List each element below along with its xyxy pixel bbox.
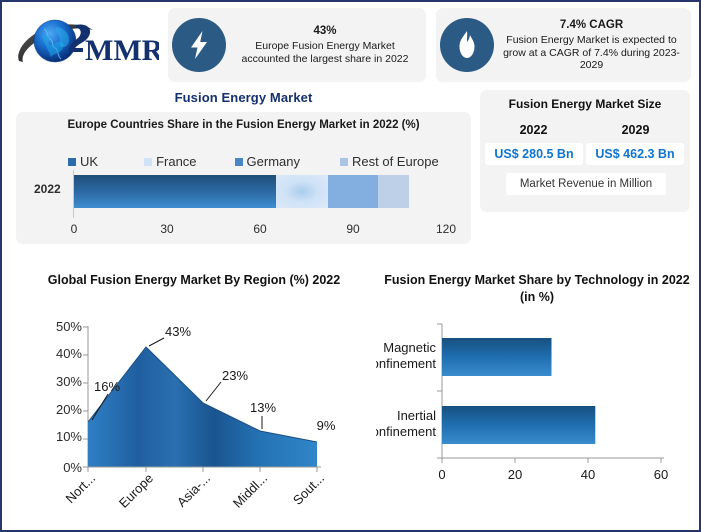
chart-legend-europe-share: UK France Germany Rest of Europe	[56, 154, 456, 169]
globe-orbit-logo-icon: MMR	[13, 15, 159, 75]
flame-icon	[440, 18, 494, 72]
y-tick-50: 50%	[56, 319, 82, 334]
tech-bar-chart-svg: 0 20 40 60 Magnetic Confinement Inertial…	[376, 316, 696, 516]
stat-text-europe: 43% Europe Fusion Energy Market accounte…	[226, 24, 420, 66]
legend-label-france: France	[156, 154, 196, 169]
x-tick-0: 0	[71, 222, 78, 236]
chart-title-by-region: Global Fusion Energy Market By Region (%…	[34, 272, 354, 289]
data-label-region-0: 16%	[94, 379, 120, 394]
x-cat-1: Europe	[116, 471, 156, 511]
legend-label-germany: Germany	[247, 154, 300, 169]
infographic-frame: MMR 43% Europe Fusion Energy Market acco…	[0, 0, 701, 532]
stack-segment-germany	[328, 175, 378, 208]
stat-text-cagr: 7.4% CAGR Fusion Energy Market is expect…	[494, 18, 685, 72]
x-tick-tech-20: 20	[508, 467, 522, 482]
bar-inertial-confinement	[442, 406, 595, 444]
y-cat-inertial-line1: Inertial	[397, 408, 436, 423]
chart-title-europe-share: Europe Countries Share in the Fusion Ene…	[28, 118, 459, 133]
data-label-region-2: 23%	[222, 368, 248, 383]
x-tick-120: 120	[436, 222, 456, 236]
stacked-bar-2022	[74, 175, 409, 208]
legend-item-rest-of-europe: Rest of Europe	[340, 154, 439, 169]
legend-item-germany: Germany	[235, 154, 300, 169]
x-tick-90: 90	[346, 222, 359, 236]
x-tick-tech-0: 0	[438, 467, 445, 482]
legend-item-france: France	[144, 154, 196, 169]
x-cat-0: Nort...	[62, 471, 98, 507]
area-chart-svg: 50% 40% 30% 20% 10% 0%	[16, 316, 376, 516]
page-title: Fusion Energy Market	[16, 90, 471, 105]
y-tick-20: 20%	[56, 402, 82, 417]
market-size-value-2029: US$ 462.3 Bn	[586, 143, 684, 165]
stat-card-cagr: 7.4% CAGR Fusion Energy Market is expect…	[436, 8, 691, 82]
legend-swatch-france	[144, 158, 152, 166]
data-label-region-3: 13%	[250, 400, 276, 415]
y-tick-30: 30%	[56, 374, 82, 389]
y-cat-magnetic-line2: Confinement	[376, 356, 436, 371]
chart-plot-europe-share: 2022 0 30 60 90 120	[16, 170, 471, 240]
area-series-region	[88, 347, 317, 467]
stat-headline-cagr: 7.4% CAGR	[502, 18, 681, 32]
stat-card-europe-share: 43% Europe Fusion Energy Market accounte…	[168, 8, 426, 82]
x-tick-30: 30	[160, 222, 173, 236]
data-label-region-1: 43%	[165, 324, 191, 339]
y-tick-10: 10%	[56, 429, 82, 444]
market-size-year-2022: 2022	[486, 123, 581, 137]
lightning-bolt-icon	[172, 18, 226, 72]
legend-item-uk: UK	[68, 154, 98, 169]
svg-text:MMR: MMR	[85, 34, 159, 67]
stack-segment-rest-of-europe	[378, 175, 409, 208]
stat-body-cagr: Fusion Energy Market is expected to grow…	[502, 34, 681, 72]
x-cat-3: Middl...	[230, 471, 270, 511]
stack-segment-uk	[74, 175, 276, 208]
x-axis-europe-share: 0 30 60 90 120	[16, 222, 471, 240]
category-label-2022: 2022	[34, 182, 61, 196]
legend-swatch-germany	[235, 158, 243, 166]
mmr-logo: MMR	[10, 8, 162, 82]
market-size-year-2029: 2029	[588, 123, 683, 137]
bar-magnetic-confinement	[442, 338, 552, 376]
x-tick-tech-60: 60	[654, 467, 668, 482]
market-size-note: Market Revenue in Million	[506, 173, 666, 195]
market-size-panel: Fusion Energy Market Size 2022 2029 US$ …	[480, 90, 690, 212]
x-cat-2: Asia-...	[174, 471, 213, 510]
y-cat-inertial-line2: Confinement	[376, 424, 436, 439]
stack-segment-france	[276, 175, 329, 208]
chart-europe-countries-share: Europe Countries Share in the Fusion Ene…	[16, 112, 471, 244]
chart-market-share-by-technology: Fusion Energy Market Share by Technology…	[376, 264, 696, 526]
chart-title-by-technology: Fusion Energy Market Share by Technology…	[382, 272, 692, 306]
legend-label-rest-of-europe: Rest of Europe	[352, 154, 439, 169]
legend-swatch-uk	[68, 158, 76, 166]
legend-label-uk: UK	[80, 154, 98, 169]
legend-swatch-rest-of-europe	[340, 158, 348, 166]
stat-body-europe: Europe Fusion Energy Market accounted th…	[234, 40, 416, 66]
chart-global-market-by-region: Global Fusion Energy Market By Region (%…	[16, 264, 376, 526]
y-tick-0: 0%	[63, 460, 82, 475]
y-cat-magnetic-line1: Magnetic	[383, 340, 436, 355]
market-size-title: Fusion Energy Market Size	[480, 97, 690, 111]
market-size-value-2022: US$ 280.5 Bn	[485, 143, 583, 165]
data-label-region-4: 9%	[317, 418, 336, 433]
x-tick-tech-40: 40	[581, 467, 595, 482]
stat-headline-europe: 43%	[234, 24, 416, 38]
y-tick-40: 40%	[56, 346, 82, 361]
x-tick-60: 60	[253, 222, 266, 236]
x-cat-4: Sout...	[290, 471, 327, 508]
header-row: MMR 43% Europe Fusion Energy Market acco…	[10, 8, 695, 86]
